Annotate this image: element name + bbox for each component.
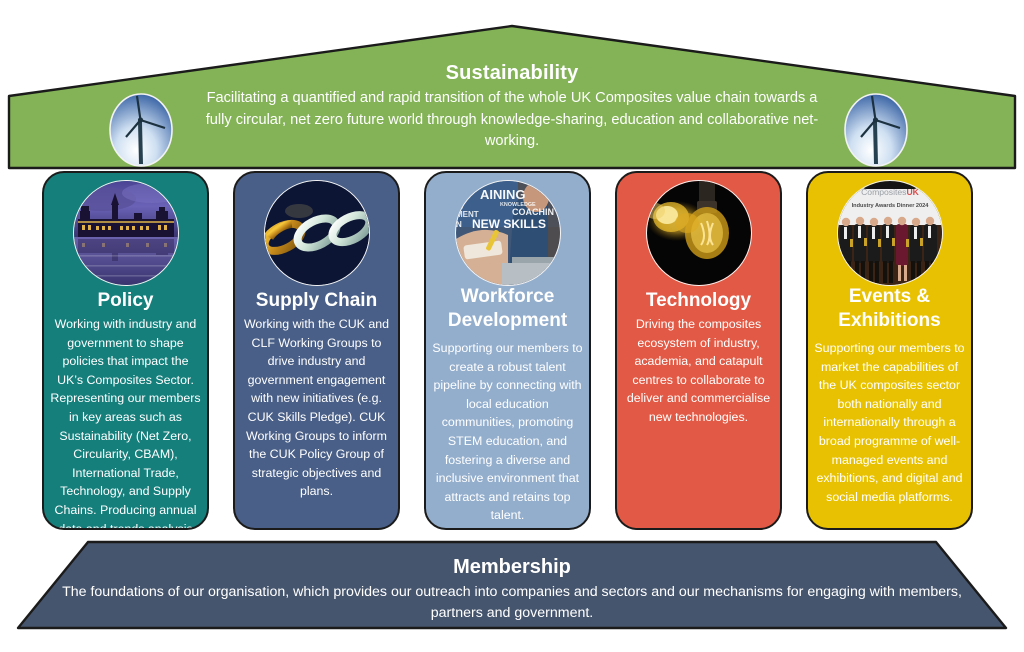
pillar-supply-chain[interactable]: Supply Chain Working with the CUK and CL… — [233, 171, 400, 530]
svg-text:AINING: AINING — [480, 187, 526, 202]
pillar-description: Supporting our members to create a robus… — [432, 339, 583, 525]
pillar-policy[interactable]: Policy Working with industry and governm… — [42, 171, 209, 530]
houses-of-parliament-photo — [73, 180, 179, 286]
pillar-description: Supporting our members to market the cap… — [814, 339, 965, 506]
pillar-title: Events & Exhibitions — [812, 285, 967, 333]
infographic-house-diagram: Sustainability Facilitating a quantified… — [0, 0, 1024, 652]
svg-text:N: N — [456, 220, 462, 229]
roof-title: Sustainability — [0, 62, 1024, 85]
training-new-skills-photo: AINING G KNOWLEDGE MENT COACHIN N NEW SK… — [455, 180, 561, 286]
base-membership-section: Membership The foundations of our organi… — [0, 538, 1024, 634]
svg-text:CompositesUK: CompositesUK — [861, 187, 920, 197]
pillar-title: Technology — [621, 289, 776, 313]
pillar-description: Working with industry and government to … — [50, 315, 201, 530]
wind-turbine-icon — [108, 92, 174, 168]
wind-turbine-icon — [843, 92, 909, 168]
chain-links-photo — [264, 180, 370, 286]
base-title: Membership — [0, 556, 1024, 579]
svg-text:NEW SKILLS: NEW SKILLS — [472, 217, 546, 231]
svg-text:COACHIN: COACHIN — [512, 207, 554, 217]
base-description: The foundations of our organisation, whi… — [42, 582, 982, 624]
roof-description: Facilitating a quantified and rapid tran… — [198, 88, 826, 153]
pillar-technology[interactable]: Technology Driving the composites ecosys… — [615, 171, 782, 530]
pillar-events-exhibitions[interactable]: CompositesUK Industry Awards Dinner 2024 — [806, 171, 973, 530]
pillar-title: Policy — [48, 289, 203, 313]
awards-dinner-group-photo: CompositesUK Industry Awards Dinner 2024 — [837, 180, 943, 286]
light-bulbs-photo — [646, 180, 752, 286]
pillar-description: Driving the composites ecosystem of indu… — [623, 315, 774, 427]
pillar-title: Supply Chain — [239, 289, 394, 313]
pillar-title: Workforce Development — [430, 285, 585, 333]
svg-text:Industry Awards Dinner 2024: Industry Awards Dinner 2024 — [851, 203, 929, 209]
pillar-workforce-development[interactable]: AINING G KNOWLEDGE MENT COACHIN N NEW SK… — [424, 171, 591, 530]
roof-sustainability-section: Sustainability Facilitating a quantified… — [0, 22, 1024, 172]
pillar-description: Working with the CUK and CLF Working Gro… — [241, 315, 392, 501]
